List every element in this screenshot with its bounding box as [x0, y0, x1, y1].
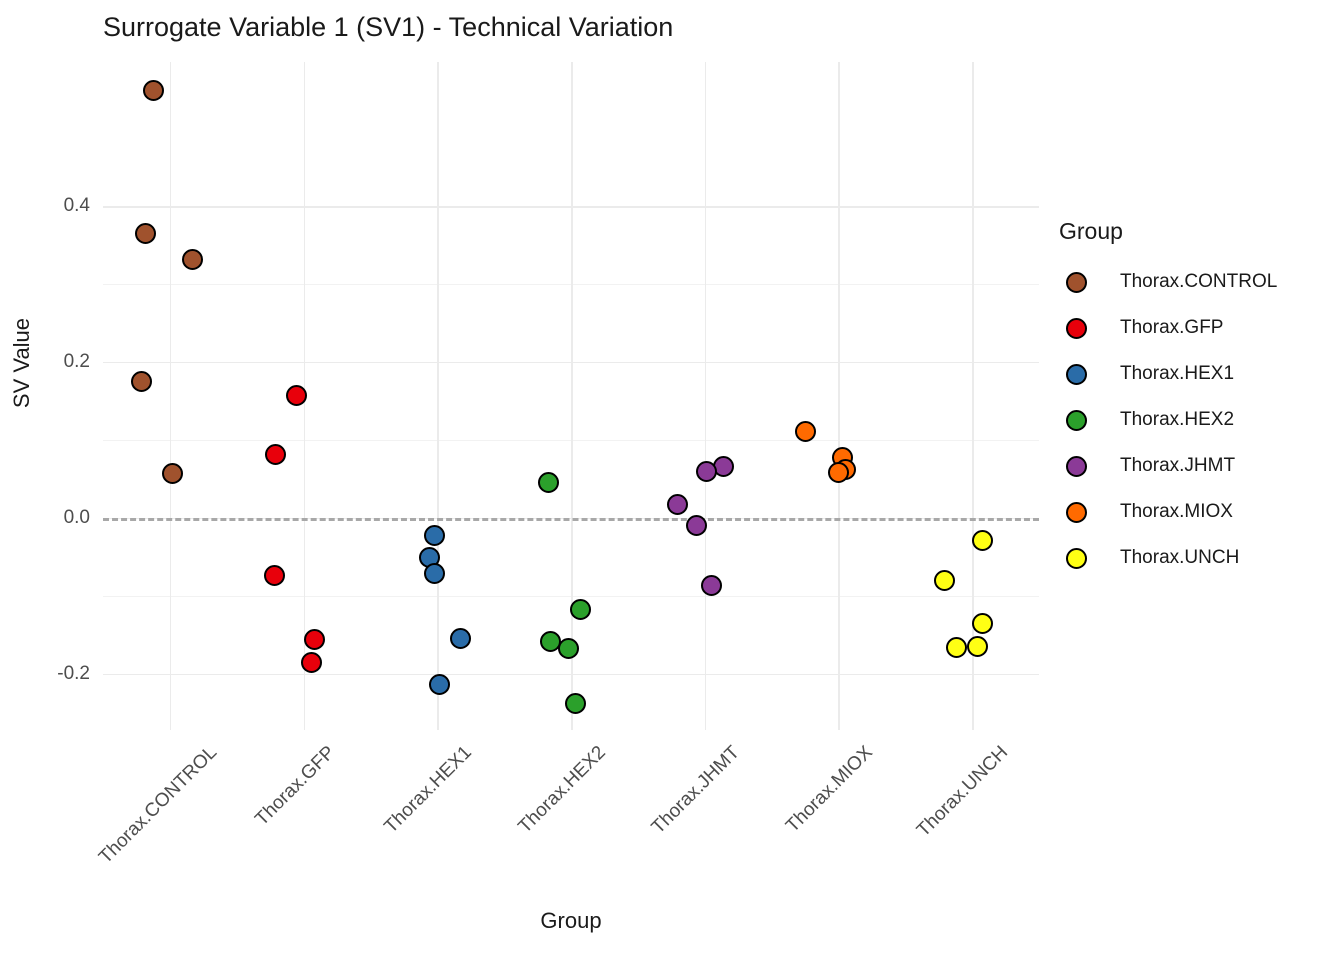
data-point [131, 371, 152, 392]
x-tick-label: Thorax.UNCH [913, 742, 1013, 842]
legend-item[interactable]: Thorax.UNCH [1057, 535, 1337, 581]
data-point [429, 674, 450, 695]
legend-swatch-circle-icon [1057, 456, 1095, 477]
data-point [424, 563, 445, 584]
gridline-major-vertical [705, 62, 707, 730]
x-tick-label: Thorax.JHMT [647, 742, 744, 839]
gridline-major-vertical [838, 62, 840, 730]
legend-item[interactable]: Thorax.JHMT [1057, 443, 1337, 489]
x-tick-label: Thorax.HEX2 [514, 742, 610, 838]
data-point [264, 565, 285, 586]
x-axis-tick-labels: Thorax.CONTROLThorax.GFPThorax.HEX1Thora… [103, 742, 1039, 882]
y-tick-label: 0.0 [64, 507, 90, 529]
data-point [946, 637, 967, 658]
gridline-major-vertical [571, 62, 573, 730]
data-point [143, 80, 164, 101]
y-tick-label: 0.4 [64, 195, 90, 217]
data-point [182, 249, 203, 270]
gridline-major-vertical [170, 62, 172, 730]
zero-reference-line [103, 518, 1039, 521]
legend-swatch-circle-icon [1057, 548, 1095, 569]
legend-swatch-circle-icon [1057, 272, 1095, 293]
data-point [972, 613, 993, 634]
legend-item-label: Thorax.UNCH [1120, 547, 1239, 569]
data-point [696, 461, 717, 482]
legend-swatch-circle-icon [1057, 502, 1095, 523]
data-point [667, 494, 688, 515]
x-tick-label: Thorax.MIOX [782, 742, 877, 837]
data-point [301, 652, 322, 673]
data-point [570, 599, 591, 620]
page-title: Surrogate Variable 1 (SV1) - Technical V… [103, 12, 673, 43]
data-point [304, 629, 325, 650]
y-tick-label: 0.2 [64, 351, 90, 373]
legend-item-label: Thorax.CONTROL [1120, 271, 1277, 293]
legend-item-label: Thorax.HEX1 [1120, 363, 1234, 385]
gridline-major-vertical [437, 62, 439, 730]
data-point [828, 462, 849, 483]
data-point [967, 636, 988, 657]
legend-item-label: Thorax.HEX2 [1120, 409, 1234, 431]
data-point [135, 223, 156, 244]
plot-panel [103, 62, 1039, 730]
data-point [565, 693, 586, 714]
legend-item[interactable]: Thorax.HEX2 [1057, 397, 1337, 443]
x-tick-label: Thorax.CONTROL [95, 742, 222, 869]
legend-swatch-circle-icon [1057, 318, 1095, 339]
legend-item[interactable]: Thorax.CONTROL [1057, 259, 1337, 305]
data-point [424, 525, 445, 546]
y-axis-title: SV Value [9, 263, 35, 463]
legend-item-label: Thorax.GFP [1120, 317, 1223, 339]
legend-item[interactable]: Thorax.GFP [1057, 305, 1337, 351]
legend-item-label: Thorax.JHMT [1120, 455, 1235, 477]
legend-title: Group [1059, 218, 1337, 245]
x-tick-label: Thorax.GFP [251, 742, 340, 831]
y-tick-label: -0.2 [57, 663, 90, 685]
legend-items: Thorax.CONTROLThorax.GFPThorax.HEX1Thora… [1057, 259, 1337, 581]
legend: Group Thorax.CONTROLThorax.GFPThorax.HEX… [1057, 218, 1337, 581]
data-point [558, 638, 579, 659]
data-point [265, 444, 286, 465]
legend-item[interactable]: Thorax.HEX1 [1057, 351, 1337, 397]
data-point [538, 472, 559, 493]
data-point [795, 421, 816, 442]
legend-swatch-circle-icon [1057, 410, 1095, 431]
data-point [972, 530, 993, 551]
x-axis-title: Group [103, 908, 1039, 934]
data-point [162, 463, 183, 484]
data-point [701, 575, 722, 596]
x-tick-label: Thorax.HEX1 [380, 742, 476, 838]
legend-item-label: Thorax.MIOX [1120, 501, 1233, 523]
legend-swatch-circle-icon [1057, 364, 1095, 385]
legend-item[interactable]: Thorax.MIOX [1057, 489, 1337, 535]
data-point [934, 570, 955, 591]
data-point [450, 628, 471, 649]
chart-root: Surrogate Variable 1 (SV1) - Technical V… [0, 0, 1344, 960]
